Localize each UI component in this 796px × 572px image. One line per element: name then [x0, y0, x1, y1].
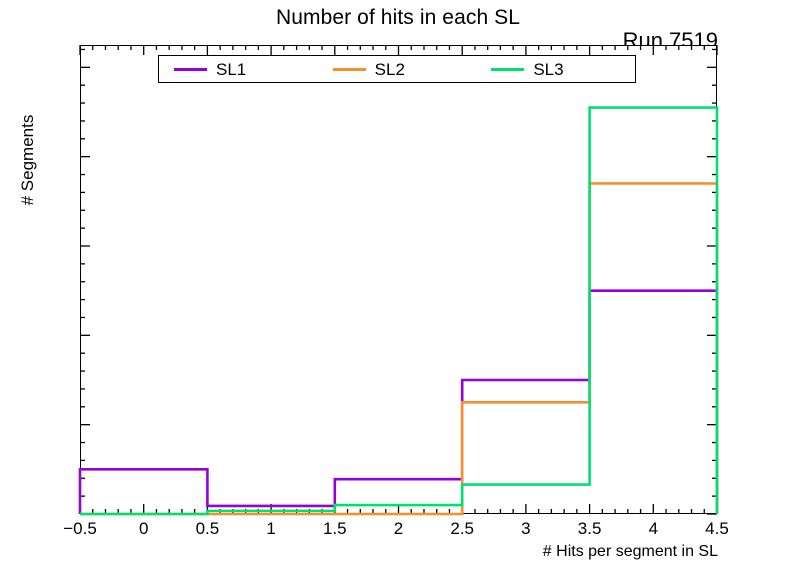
legend: SL1SL2SL3 [158, 55, 636, 83]
legend-label: SL1 [216, 61, 246, 78]
x-tick-label: 1.5 [323, 519, 347, 539]
x-tick-label: 0 [139, 519, 148, 539]
histogram-step-sl3 [80, 108, 717, 514]
histogram-step-sl1 [80, 291, 717, 514]
legend-entry-sl1[interactable]: SL1 [159, 61, 318, 78]
x-tick-label: 2.5 [450, 519, 474, 539]
x-tick-label: 3 [521, 519, 530, 539]
x-tick-label: −0.5 [63, 519, 97, 539]
x-tick-label: 0.5 [196, 519, 220, 539]
histogram-plot [0, 0, 796, 572]
legend-swatch-icon [491, 68, 524, 71]
x-tick-label: 1 [266, 519, 275, 539]
legend-entry-sl3[interactable]: SL3 [476, 61, 635, 78]
x-tick-label: 2 [394, 519, 403, 539]
x-tick-label: 4 [649, 519, 658, 539]
y-axis-title: # Segments [18, 80, 38, 240]
x-tick-label: 4.5 [705, 519, 729, 539]
legend-entry-sl2[interactable]: SL2 [318, 61, 477, 78]
axis-ticks [80, 45, 717, 514]
chart-canvas: Number of hits in each SL Run 7519 01000… [0, 0, 796, 572]
x-tick-label: 3.5 [578, 519, 602, 539]
histogram-series [80, 108, 717, 514]
legend-label: SL2 [375, 61, 405, 78]
legend-label: SL3 [533, 61, 563, 78]
histogram-step-sl2 [80, 183, 717, 514]
legend-swatch-icon [174, 68, 207, 71]
legend-swatch-icon [333, 68, 366, 71]
x-axis-title: # Hits per segment in SL [543, 543, 718, 561]
